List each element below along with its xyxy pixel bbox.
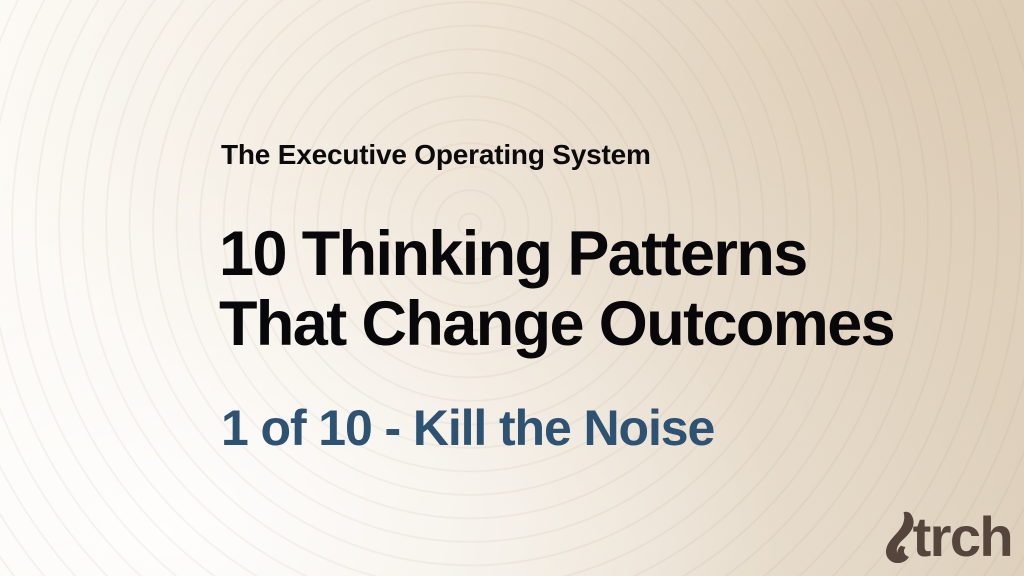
- brand-logo: trch: [876, 506, 1012, 568]
- subtitle-text: 1 of 10 - Kill the Noise: [221, 398, 714, 458]
- eyebrow-text: The Executive Operating System: [221, 138, 651, 172]
- slide-canvas: The Executive Operating System 10 Thinki…: [0, 0, 1024, 576]
- headline-line-1: 10 Thinking Patterns: [219, 219, 894, 289]
- headline-line-2: That Change Outcomes: [219, 289, 894, 359]
- logo-wordmark: trch: [913, 511, 1012, 563]
- flame-icon: [876, 511, 922, 563]
- text-block: The Executive Operating System 10 Thinki…: [221, 0, 981, 576]
- page-title: 10 Thinking Patterns That Change Outcome…: [219, 219, 894, 359]
